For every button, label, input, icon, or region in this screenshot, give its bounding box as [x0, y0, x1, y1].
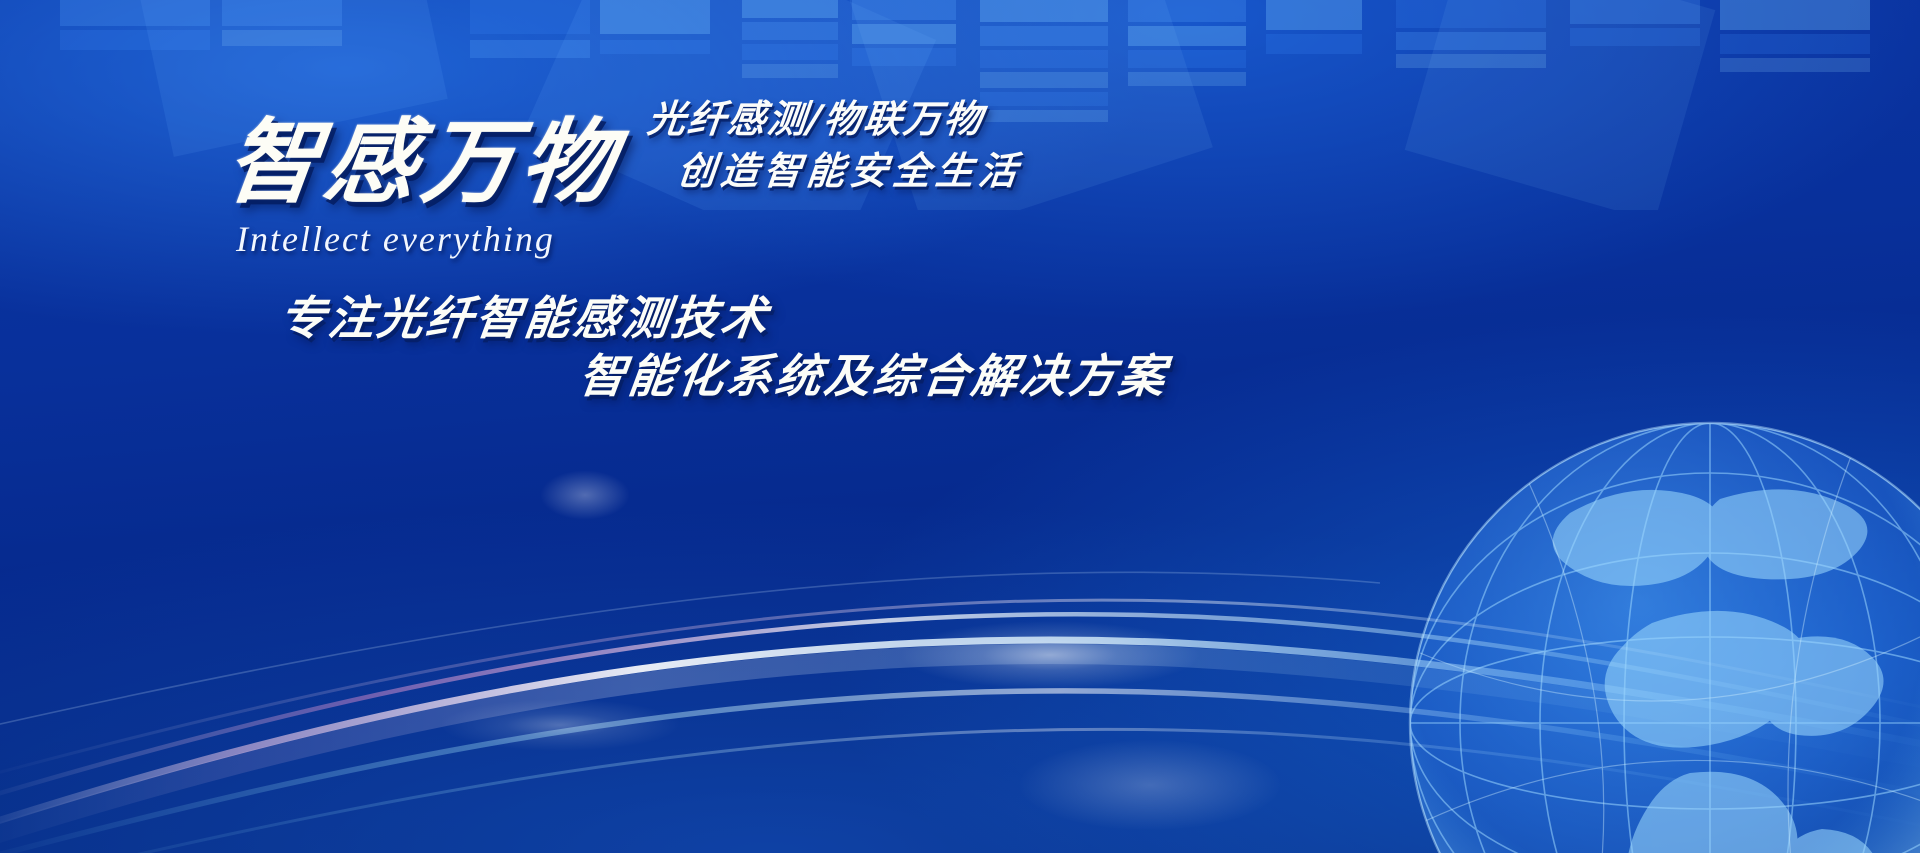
tagline-line-1: 专注光纤智能感测技术: [276, 282, 774, 348]
headline-chinese: 智感万物: [220, 88, 628, 221]
hero-banner: 智感万物 Intellect everything 光纤感测/物联万物 创造智能…: [0, 0, 1920, 853]
lens-flare-secondary-icon: [1020, 740, 1280, 830]
headline-english: Intellect everything: [236, 218, 555, 260]
tagline-line-2: 智能化系统及综合解决方案: [576, 340, 1172, 406]
lens-flare-icon: [540, 470, 630, 520]
slogan-line-2: 创造智能安全生活: [675, 140, 1025, 195]
slogan-line-1: 光纤感测/物联万物: [645, 88, 987, 143]
globe-graphic: [1390, 403, 1920, 853]
